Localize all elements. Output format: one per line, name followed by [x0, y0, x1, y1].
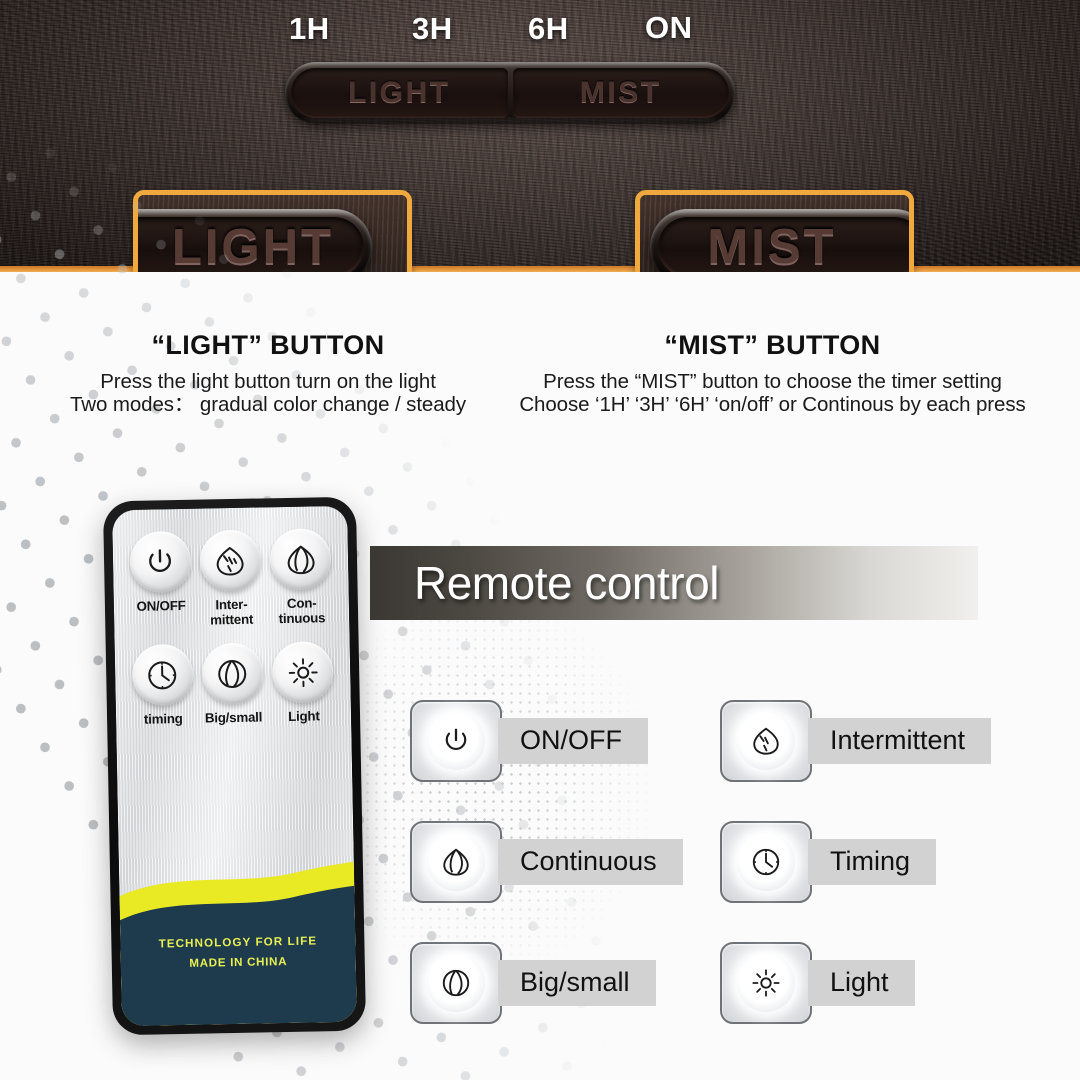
- power-icon[interactable]: [129, 531, 191, 593]
- remote-button-label: Big/small: [205, 711, 263, 727]
- icon-glow: [737, 833, 795, 891]
- timer-label-on: ON: [645, 10, 693, 46]
- legend-label: Timing: [808, 839, 936, 885]
- sun-icon[interactable]: [720, 942, 812, 1024]
- legend-item-light[interactable]: Light: [720, 942, 1020, 1024]
- remote-button-continuous[interactable]: Con- tinuous: [265, 528, 337, 627]
- remote-button-label: timing: [144, 712, 183, 727]
- remote-button-timing[interactable]: timing: [127, 644, 199, 728]
- mist-section-desc-line2: Choose ‘1H’ ‘3H’ ‘6H’ ‘on/off’ or Contin…: [515, 393, 1030, 417]
- mist-size-icon[interactable]: [202, 643, 264, 705]
- remote-control-device: ON/OFF Inter- mittent: [103, 497, 366, 1036]
- legend-label: Light: [808, 960, 915, 1006]
- remote-button-label: Light: [288, 710, 320, 725]
- legend-label: Intermittent: [808, 718, 991, 764]
- legend-grid: ON/OFF Intermittent: [410, 700, 1050, 1063]
- remote-control-banner: Remote control: [370, 546, 978, 620]
- banner-title: Remote control: [414, 556, 719, 610]
- legend-item-continuous[interactable]: Continuous: [410, 821, 710, 903]
- infographic-page: 1H 3H 6H ON LIGHT MIST LIGHT MIST “LIGHT…: [0, 0, 1080, 1080]
- remote-face-plate: ON/OFF Inter- mittent: [112, 506, 357, 1026]
- icon-glow: [737, 712, 795, 770]
- continuous-icon[interactable]: [410, 821, 502, 903]
- remote-button-light[interactable]: Light: [267, 641, 339, 725]
- icon-glow: [427, 712, 485, 770]
- remote-button-on-off[interactable]: ON/OFF: [124, 531, 196, 630]
- legend-label: ON/OFF: [498, 718, 648, 764]
- icon-glow: [427, 833, 485, 891]
- remote-button-grid: ON/OFF Inter- mittent: [124, 528, 339, 728]
- legend-item-timing[interactable]: Timing: [720, 821, 1020, 903]
- remote-button-label: Inter- mittent: [210, 598, 253, 628]
- sun-icon[interactable]: [272, 641, 334, 703]
- legend-row: Continuous Timing: [410, 821, 1050, 903]
- power-icon[interactable]: [410, 700, 502, 782]
- legend-label: Big/small: [498, 960, 656, 1006]
- remote-button-label: ON/OFF: [136, 599, 185, 615]
- legend-row: Big/small: [410, 942, 1050, 1024]
- mist-section-desc-line1: Press the “MIST” button to choose the ti…: [515, 370, 1030, 394]
- light-section-desc-line1: Press the light button turn on the light: [53, 370, 483, 394]
- legend-item-on-off[interactable]: ON/OFF: [410, 700, 710, 782]
- continuous-icon[interactable]: [270, 528, 332, 590]
- intermittent-icon[interactable]: [199, 529, 261, 591]
- clock-icon[interactable]: [720, 821, 812, 903]
- icon-glow: [737, 954, 795, 1012]
- light-section-desc-line2: Two modes： gradual color change / steady: [53, 393, 483, 417]
- intermittent-icon[interactable]: [720, 700, 812, 782]
- legend-row: ON/OFF Intermittent: [410, 700, 1050, 782]
- remote-button-intermittent[interactable]: Inter- mittent: [195, 529, 267, 628]
- remote-button-big-small[interactable]: Big/small: [197, 643, 269, 727]
- legend-label: Continuous: [498, 839, 683, 885]
- mist-size-icon[interactable]: [410, 942, 502, 1024]
- remote-bottom-wave-panel: TECHNOLOGY FOR LIFE MADE IN CHINA: [119, 862, 357, 1026]
- legend-item-big-small[interactable]: Big/small: [410, 942, 710, 1024]
- light-section-title: “LIGHT” BUTTON: [83, 330, 453, 361]
- mist-section-title: “MIST” BUTTON: [585, 330, 960, 361]
- remote-button-label: Con- tinuous: [278, 596, 325, 626]
- icon-glow: [427, 954, 485, 1012]
- clock-icon[interactable]: [131, 644, 193, 706]
- legend-item-intermittent[interactable]: Intermittent: [720, 700, 1020, 782]
